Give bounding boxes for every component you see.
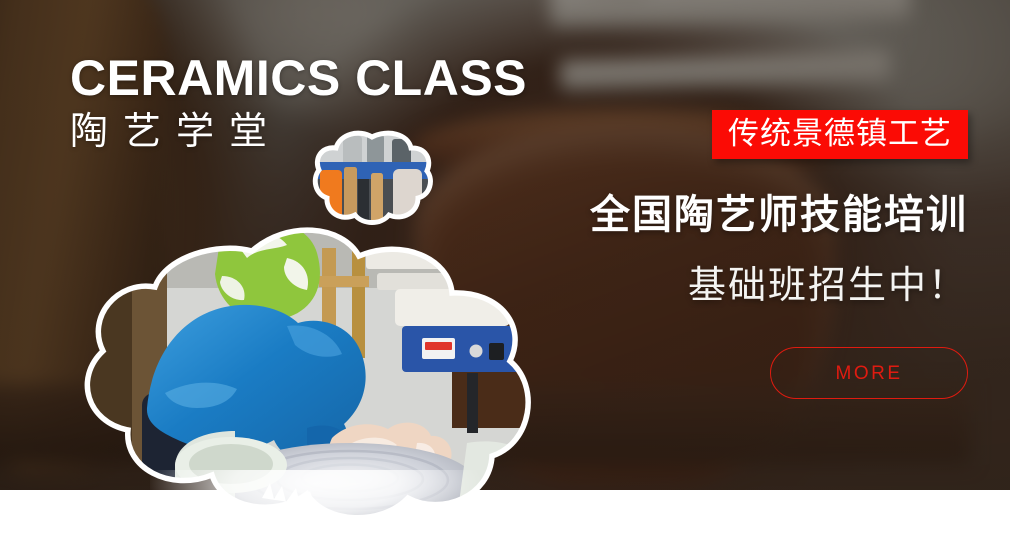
promo-block: 传统景德镇工艺 全国陶艺师技能培训 基础班招生中！ MORE: [498, 110, 968, 399]
cloud-photo-pottery-wheel: [72, 228, 544, 518]
status-badge: 传统景德镇工艺: [712, 110, 968, 159]
page-title-english: CERAMICS CLASS: [70, 52, 527, 104]
headline-block: CERAMICS CLASS 陶艺学堂: [70, 52, 527, 157]
more-button[interactable]: MORE: [770, 347, 968, 399]
ceramics-class-banner: CERAMICS CLASS 陶艺学堂 传统景德镇工艺 全国陶艺师技能培训 基础…: [0, 0, 1010, 538]
page-title-chinese: 陶艺学堂: [70, 109, 527, 157]
promo-headline: 全国陶艺师技能培训: [498, 195, 968, 235]
promo-subheadline: 基础班招生中！: [498, 267, 968, 305]
